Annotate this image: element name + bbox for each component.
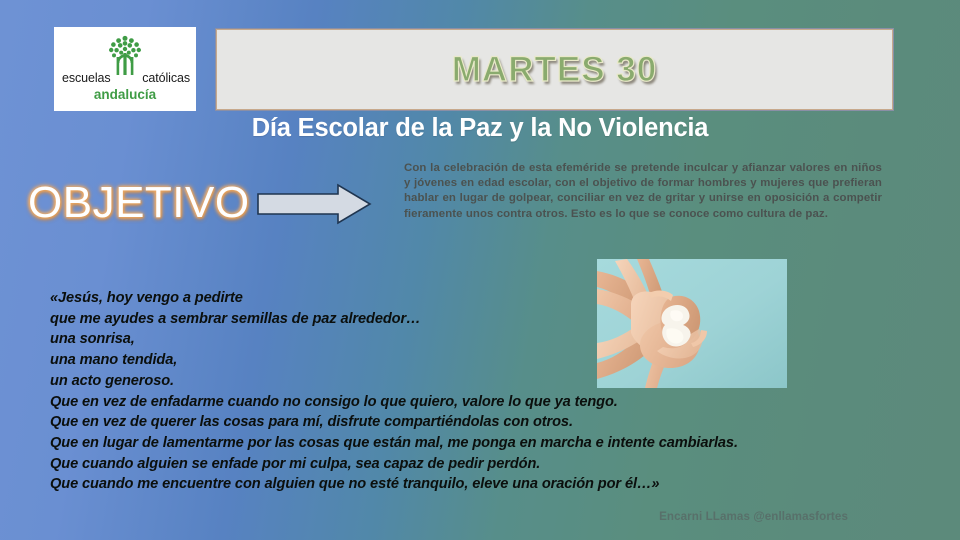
page-title: MARTES 30 (452, 50, 657, 90)
page-subtitle: Día Escolar de la Paz y la No Violencia (0, 114, 960, 143)
prayer-line: Que cuando alguien se enfade por mi culp… (50, 454, 880, 475)
author-credit: Encarni LLamas @enllamasfortes (0, 510, 848, 523)
prayer-line: Que en lugar de lamentarme por las cosas… (50, 433, 880, 454)
objective-description: Con la celebración de esta efeméride se … (404, 161, 882, 222)
logo-region-label: andalucía (94, 87, 156, 102)
logo-wordmark: escuelas católicas (54, 71, 196, 88)
prayer-line: «Jesús, hoy vengo a pedirte (50, 288, 880, 309)
organization-logo: escuelas católicas andalucía (54, 27, 196, 111)
prayer-line: una mano tendida, (50, 350, 880, 371)
prayer-line: Que cuando me encuentre con alguien que … (50, 474, 880, 495)
prayer-line: una sonrisa, (50, 329, 880, 350)
prayer-line: que me ayudes a sembrar semillas de paz … (50, 309, 880, 330)
objective-heading: OBJETIVO (28, 178, 250, 228)
tree-icon (104, 35, 146, 75)
logo-word-right: católicas (142, 71, 190, 85)
prayer-line: un acto generoso. (50, 371, 880, 392)
prayer-line: Que en vez de querer las cosas para mí, … (50, 412, 880, 433)
title-band: MARTES 30 (216, 29, 893, 110)
slide-canvas: escuelas católicas andalucía MARTES 30 D… (0, 0, 960, 540)
prayer-text: «Jesús, hoy vengo a pedirte que me ayude… (50, 288, 880, 495)
right-arrow-icon (256, 183, 372, 225)
prayer-line: Que en vez de enfadarme cuando no consig… (50, 392, 880, 413)
logo-word-left: escuelas (62, 71, 111, 85)
